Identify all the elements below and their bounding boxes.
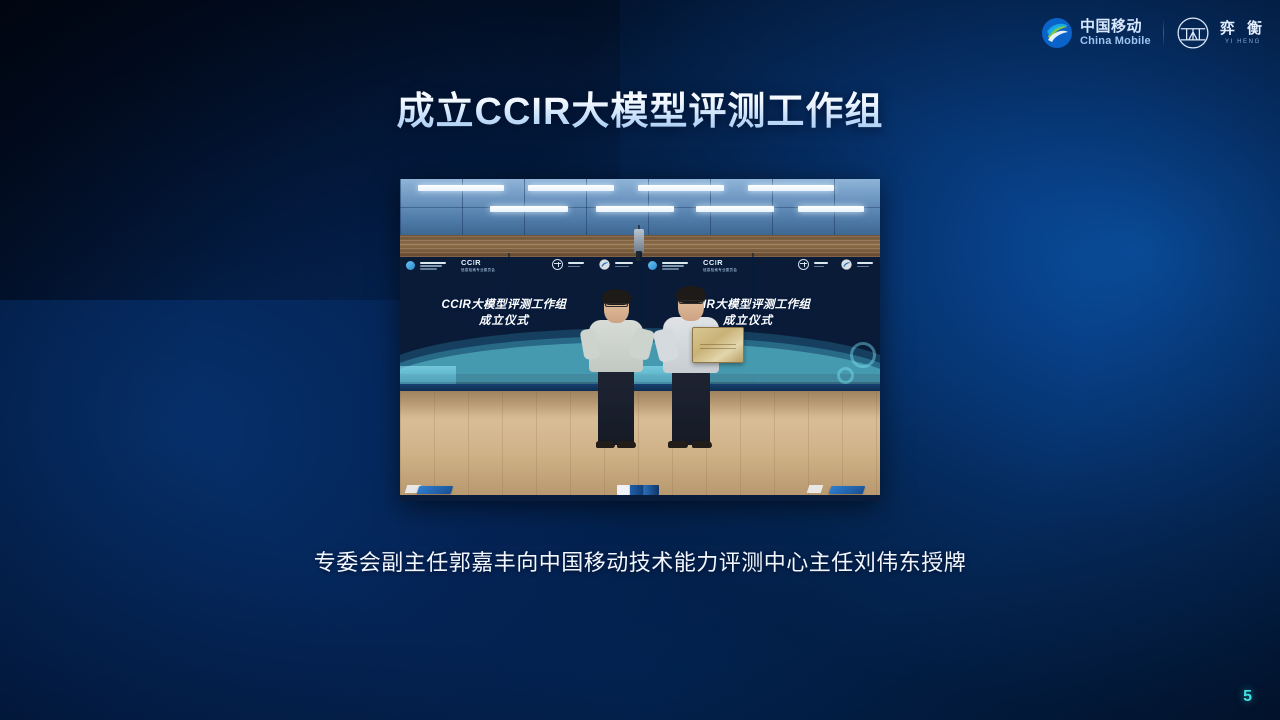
person-left-legs xyxy=(598,367,634,445)
ccir-logo-subtext: 信息检索专业委员会 xyxy=(703,268,737,273)
floor-shadow xyxy=(400,391,880,417)
ceiling-lamp xyxy=(748,185,834,191)
logo-divider xyxy=(1163,20,1164,46)
photo-caption: 专委会副主任郭嘉丰向中国移动技术能力评测中心主任刘伟东授牌 xyxy=(0,545,1280,577)
yiheng-mini-wordmark xyxy=(814,262,828,267)
china-mobile-mini-wordmark xyxy=(857,262,873,267)
ceiling-lamp xyxy=(638,185,724,191)
yiheng-logo: 弈 衡 YI HENG xyxy=(1176,16,1266,50)
yiheng-mini-icon xyxy=(798,259,809,270)
person-left-glasses-icon xyxy=(605,303,628,307)
china-mobile-wordmark: 中国移动 China Mobile xyxy=(1080,19,1151,47)
china-mobile-swirl-icon xyxy=(1041,17,1073,49)
yiheng-name-cn: 弈 衡 xyxy=(1216,21,1266,36)
award-plaque xyxy=(692,327,744,363)
screen-gear-icon xyxy=(850,342,876,368)
yiheng-circle-emblem-icon xyxy=(1176,16,1210,50)
ceiling-lamp xyxy=(490,206,568,212)
floor-marker xyxy=(417,486,454,494)
yiheng-wordmark: 弈 衡 YI HENG xyxy=(1216,21,1266,45)
person-right-shoe xyxy=(668,441,688,448)
banner-logo-group-left: CCIR 信息检索专业委员会 xyxy=(406,259,495,273)
cips-society-wordmark xyxy=(662,262,688,270)
yiheng-mini-wordmark xyxy=(568,262,584,267)
floor-marker xyxy=(829,486,866,494)
cips-society-wordmark xyxy=(420,262,446,270)
cips-society-icon xyxy=(406,261,415,270)
header-logo-bar: 中国移动 China Mobile 弈 衡 YI HENG xyxy=(1041,16,1266,50)
page-title: 成立CCIR大模型评测工作组 xyxy=(0,80,1280,135)
china-mobile-mini-icon xyxy=(599,259,610,270)
yiheng-mini-icon xyxy=(552,259,563,270)
cips-society-icon xyxy=(648,261,657,270)
banner-logo-group-left-partners xyxy=(552,259,633,270)
china-mobile-mini-wordmark xyxy=(615,262,633,267)
china-mobile-name-cn: 中国移动 xyxy=(1080,19,1151,34)
ccir-logo-text: CCIR xyxy=(703,259,737,268)
ceremony-photo: CCIR 信息检索专业委员会 xyxy=(400,179,880,501)
china-mobile-name-en: China Mobile xyxy=(1080,36,1151,47)
yiheng-name-en: YI HENG xyxy=(1221,39,1261,45)
banner-logo-group-right: CCIR 信息检索专业委员会 xyxy=(648,259,737,273)
person-right-legs xyxy=(672,367,710,445)
ceiling-lamp xyxy=(528,185,614,191)
ceiling-lamp xyxy=(596,206,674,212)
slide-root: 中国移动 China Mobile 弈 衡 YI HENG 成立CCIR大模型评… xyxy=(0,0,1280,720)
person-right-glasses-icon xyxy=(679,300,703,304)
floor-marker xyxy=(807,485,824,493)
ccir-logo-subtext: 信息检索专业委员会 xyxy=(461,268,495,273)
banner-title-left-line2: 成立仪式 xyxy=(404,313,604,329)
china-mobile-logo: 中国移动 China Mobile xyxy=(1041,17,1151,49)
ccir-logo-text: CCIR xyxy=(461,259,495,268)
photo-floor xyxy=(400,391,880,495)
person-left-shoe xyxy=(617,441,636,448)
person-right-shoe xyxy=(692,441,712,448)
banner-title-left-line1: CCIR大模型评测工作组 xyxy=(404,297,604,313)
china-mobile-mini-icon xyxy=(841,259,852,270)
photo-bottom-band xyxy=(400,495,880,501)
ceiling-lamp xyxy=(696,206,774,212)
banner-logo-group-right-partners xyxy=(798,259,873,270)
hanging-microphone-icon xyxy=(634,229,644,253)
banner-title-left: CCIR大模型评测工作组 成立仪式 xyxy=(404,297,604,330)
floor-marker-center xyxy=(617,485,659,495)
ceiling-lamp xyxy=(798,206,864,212)
ceiling-lamp xyxy=(418,185,504,191)
person-left-shoe xyxy=(596,441,615,448)
screen-gear-icon xyxy=(837,367,854,384)
page-number: 5 xyxy=(1243,688,1252,706)
